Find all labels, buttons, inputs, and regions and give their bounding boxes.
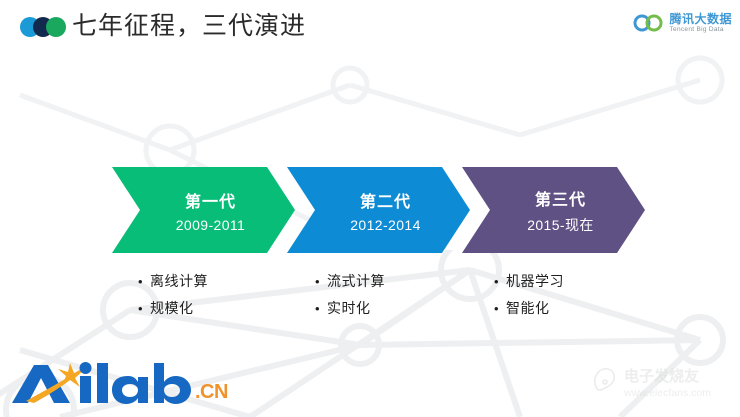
- slide-header: 七年征程，三代演进 腾讯大数据 Tencent Big Data: [0, 0, 740, 52]
- elecfans-watermark: 电子发烧友 www.elecfans.com: [590, 353, 730, 411]
- brand-name-cn: 腾讯大数据: [669, 13, 732, 25]
- stage-3-range: 2015-现在: [527, 215, 594, 235]
- timeline-stage-3[interactable]: 第三代 2015-现在: [462, 167, 645, 253]
- stage-1-title: 第一代: [185, 188, 236, 212]
- list-item-label: 实时化: [327, 295, 371, 321]
- stage-1-range: 2009-2011: [176, 217, 246, 233]
- bullet-dot-icon: •: [138, 269, 150, 295]
- list-item: • 规模化: [138, 295, 208, 322]
- stage-1-feature-list: • 离线计算 • 规模化: [138, 268, 208, 322]
- list-item: • 实时化: [315, 295, 385, 322]
- slide-canvas: 七年征程，三代演进 腾讯大数据 Tencent Big Data 第一代 200…: [0, 0, 740, 417]
- tencent-big-data-logo: 腾讯大数据 Tencent Big Data: [632, 12, 732, 34]
- elecfans-name-cn: 电子发烧友: [624, 367, 699, 385]
- list-item-label: 智能化: [506, 295, 550, 321]
- bullet-dot-icon: •: [138, 296, 150, 322]
- ailab-watermark: .CN: [8, 361, 228, 407]
- list-item-label: 流式计算: [327, 268, 385, 294]
- generation-timeline: 第一代 2009-2011 第二代 2012-2014 第三代 2015-现在: [112, 167, 633, 253]
- stage-3-title: 第三代: [535, 186, 586, 210]
- ailab-domain-suffix: .CN: [195, 381, 228, 404]
- bullet-dot-icon: •: [315, 269, 327, 295]
- brand-name-en: Tencent Big Data: [669, 27, 732, 34]
- stage-2-range: 2012-2014: [350, 217, 421, 233]
- bullet-dot-icon: •: [315, 296, 327, 322]
- list-item-label: 规模化: [150, 295, 194, 321]
- three-dots-icon: [19, 17, 67, 37]
- list-item: • 离线计算: [138, 268, 208, 295]
- list-item: • 智能化: [494, 295, 564, 322]
- infinity-loop-icon: [632, 12, 664, 34]
- timeline-stage-2[interactable]: 第二代 2012-2014: [287, 167, 470, 253]
- list-item-label: 机器学习: [506, 268, 564, 294]
- page-title: 七年征程，三代演进: [72, 8, 306, 44]
- brand-text-block: 腾讯大数据 Tencent Big Data: [669, 13, 732, 34]
- list-item: • 机器学习: [494, 268, 564, 295]
- stage-feature-lists: • 离线计算 • 规模化 • 流式计算 • 实时化 • 机器学习: [112, 268, 672, 328]
- bullet-dot-icon: •: [494, 296, 506, 322]
- bullet-dot-icon: •: [494, 269, 506, 295]
- stage-2-feature-list: • 流式计算 • 实时化: [315, 268, 385, 322]
- stage-3-feature-list: • 机器学习 • 智能化: [494, 268, 564, 322]
- timeline-stage-1[interactable]: 第一代 2009-2011: [112, 167, 295, 253]
- list-item: • 流式计算: [315, 268, 385, 295]
- stage-2-title: 第二代: [360, 188, 411, 212]
- ailab-wordmark-icon: [8, 361, 193, 407]
- elecfans-url: www.elecfans.com: [623, 387, 711, 399]
- list-item-label: 离线计算: [150, 268, 208, 294]
